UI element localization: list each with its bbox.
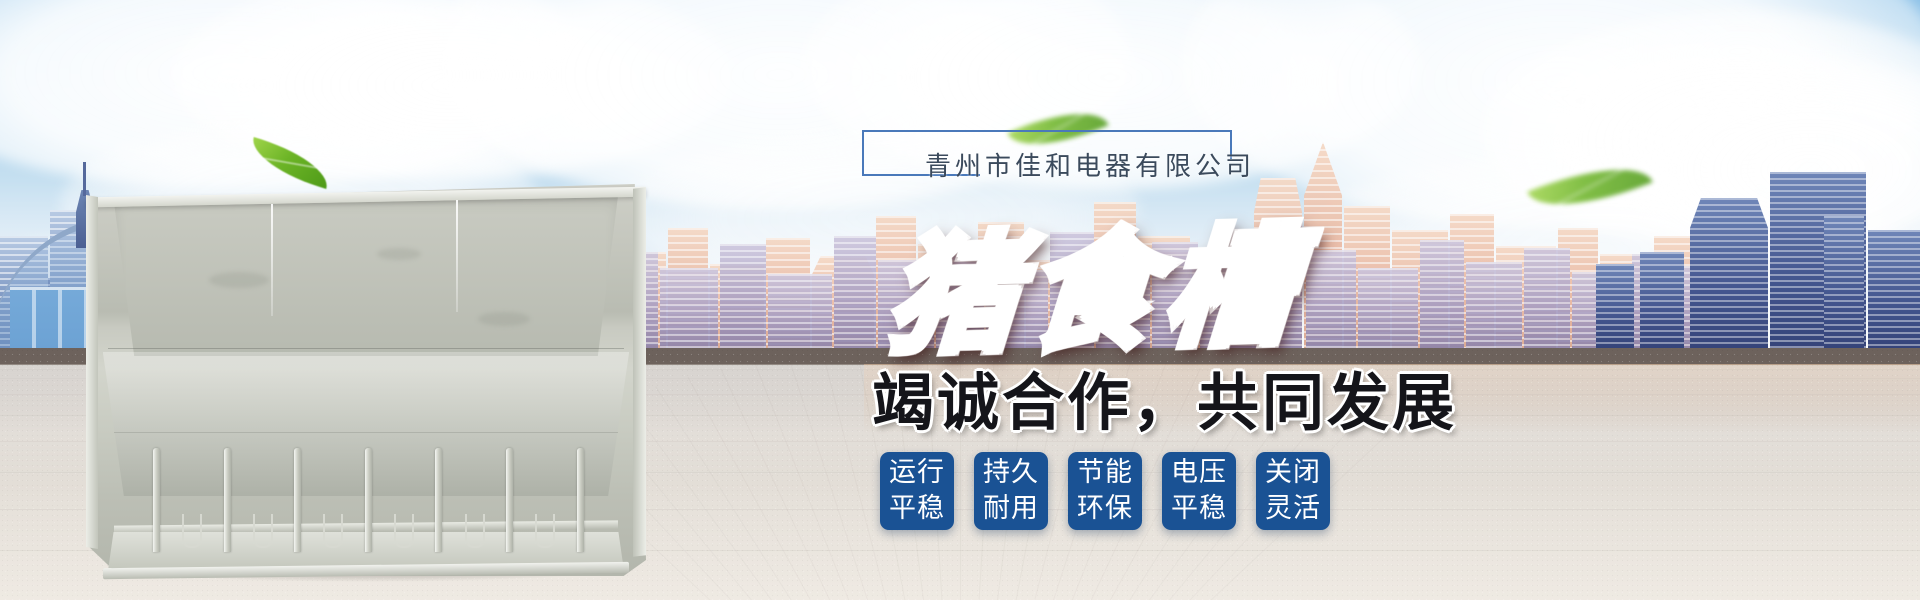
feature-badge-5[interactable]: 关闭灵活 [1256, 452, 1330, 530]
feature-badge-2[interactable]: 持久耐用 [974, 452, 1048, 530]
feature-badge-4[interactable]: 电压平稳 [1162, 452, 1236, 530]
badge-line-1: 关闭 [1265, 455, 1321, 491]
badge-line-2: 环保 [1077, 491, 1133, 527]
feature-badge-1[interactable]: 运行平稳 [880, 452, 954, 530]
feature-badge-list: 运行平稳持久耐用节能环保电压平稳关闭灵活 [880, 452, 1330, 530]
badge-line-2: 平稳 [889, 491, 945, 527]
badge-line-1: 电压 [1171, 455, 1227, 491]
subtitle-slogan: 竭诚合作，共同发展 [872, 352, 1457, 442]
frame-left-edge [862, 130, 864, 176]
badge-line-2: 耐用 [983, 491, 1039, 527]
promo-banner: 青州市佳和电器有限公司 猪食槽 猪食槽 竭诚合作，共同发展 运行平稳持久耐用节能… [0, 0, 1920, 600]
badge-line-1: 运行 [889, 455, 945, 491]
badge-line-1: 节能 [1077, 455, 1133, 491]
banner-copy: 青州市佳和电器有限公司 猪食槽 猪食槽 竭诚合作，共同发展 运行平稳持久耐用节能… [0, 0, 1920, 600]
badge-line-1: 持久 [983, 455, 1039, 491]
badge-line-2: 灵活 [1265, 491, 1321, 527]
company-name: 青州市佳和电器有限公司 [925, 146, 1255, 183]
frame-top-edge [862, 130, 1232, 132]
feature-badge-3[interactable]: 节能环保 [1068, 452, 1142, 530]
badge-line-2: 平稳 [1171, 491, 1227, 527]
main-title: 猪食槽 [884, 183, 1310, 379]
